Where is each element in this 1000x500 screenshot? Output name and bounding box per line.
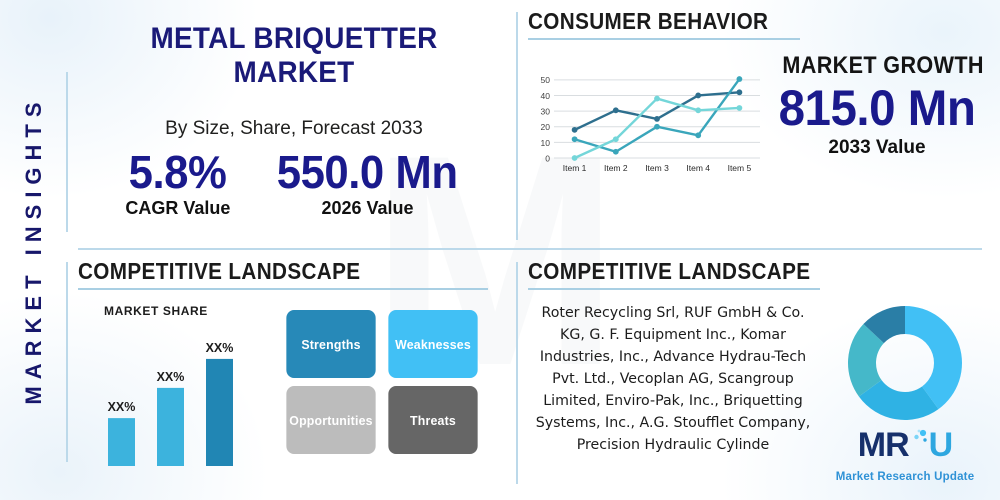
consumer-behavior-heading: CONSUMER BEHAVIOR [528, 8, 768, 35]
competitive-landscape-left-rule [78, 288, 488, 290]
donut-column: MRU Market Research Update [818, 302, 992, 483]
svg-text:XX%: XX% [206, 341, 234, 355]
swot-threats-label: Threats [410, 413, 456, 428]
stat-cagr-value: 5.8% [128, 148, 228, 196]
svg-text:Item 3: Item 3 [645, 163, 669, 173]
market-share-bar-chart: MARKET SHARE XX%XX%XX% [78, 304, 278, 475]
brand-wordmark: MRU [836, 428, 975, 468]
competitive-landscape-left-heading: COMPETITIVE LANDSCAPE [78, 258, 360, 285]
horizontal-divider [78, 248, 982, 250]
brand-wordmark-prefix: MR [858, 426, 909, 464]
comp-left-body: MARKET SHARE XX%XX%XX% Strengths Weaknes… [78, 304, 510, 475]
key-players-list: Roter Recycling Srl, RUF GmbH & Co. KG, … [528, 302, 818, 483]
svg-text:Item 4: Item 4 [686, 163, 710, 173]
competitive-landscape-right-heading: COMPETITIVE LANDSCAPE [528, 258, 810, 285]
vertical-divider-top [516, 12, 518, 240]
swot-threats[interactable]: Threats [388, 386, 477, 454]
market-growth-heading: MARKET GROWTH [783, 52, 984, 80]
market-growth-panel: CONSUMER BEHAVIOR MARKET GROWTH 01020304… [528, 8, 992, 244]
hero-subtitle: By Size, Share, Forecast 2033 [78, 118, 510, 140]
page-title: METAL BRIQUETTER MARKET [93, 22, 495, 90]
hero-panel: METAL BRIQUETTER MARKET By Size, Share, … [78, 8, 510, 244]
bar-chart-svg: XX%XX%XX% [78, 318, 278, 470]
growth-body: 01020304050Item 1Item 2Item 3Item 4Item … [528, 66, 992, 191]
swot-grid: Strengths Weaknesses Opportunities Threa… [284, 310, 480, 475]
svg-text:30: 30 [541, 106, 551, 116]
swot-strengths[interactable]: Strengths [286, 310, 375, 378]
svg-text:Item 2: Item 2 [604, 163, 628, 173]
competitive-landscape-left-panel: COMPETITIVE LANDSCAPE MARKET SHARE XX%XX… [78, 258, 510, 492]
svg-text:10: 10 [541, 138, 551, 148]
growth-heading-block: CONSUMER BEHAVIOR MARKET GROWTH [528, 8, 992, 40]
comp-right-heading-block: COMPETITIVE LANDSCAPE [528, 258, 992, 290]
competitive-landscape-right-rule [528, 288, 820, 290]
market-split-donut-chart [846, 304, 964, 422]
rail-divider-upper [66, 72, 68, 232]
brand-logo: MRU Market Research Update [836, 428, 975, 483]
competitive-landscape-right-panel: COMPETITIVE LANDSCAPE Roter Recycling Sr… [528, 258, 992, 492]
left-rail: MARKET INSIGHTS [0, 0, 68, 500]
svg-text:Item 1: Item 1 [563, 163, 587, 173]
stat-cagr: 5.8% CAGR Value [125, 148, 230, 219]
stat-cagr-label: CAGR Value [125, 198, 230, 219]
rail-divider-lower [66, 262, 68, 462]
svg-text:XX%: XX% [108, 400, 136, 414]
hero-stat-row: 5.8% CAGR Value 550.0 Mn 2026 Value [78, 148, 510, 219]
brand-bubbles-icon [909, 428, 929, 468]
svg-text:XX%: XX% [157, 370, 185, 384]
vertical-divider-bottom [516, 262, 518, 484]
svg-text:0: 0 [545, 153, 550, 163]
consumer-behavior-line-chart: 01020304050Item 1Item 2Item 3Item 4Item … [528, 66, 762, 191]
swot-opportunities-label: Opportunities [289, 413, 372, 428]
svg-text:50: 50 [541, 75, 551, 85]
svg-text:20: 20 [541, 122, 551, 132]
stat-2026-value: 550.0 Mn [277, 148, 458, 196]
brand-wordmark-suffix: U [929, 426, 953, 464]
stat-2026: 550.0 Mn 2026 Value [272, 148, 462, 219]
stat-2033: 815.0 Mn 2033 Value [762, 66, 992, 191]
swot-weaknesses[interactable]: Weaknesses [388, 310, 477, 378]
svg-text:Item 5: Item 5 [728, 163, 752, 173]
players-body: Roter Recycling Srl, RUF GmbH & Co. KG, … [528, 302, 992, 483]
stat-2033-label: 2033 Value [762, 137, 992, 159]
stat-2026-label: 2026 Value [272, 198, 462, 219]
swot-weaknesses-label: Weaknesses [395, 337, 471, 352]
rail-label: MARKET INSIGHTS [21, 95, 47, 404]
stat-2033-value: 815.0 Mn [768, 82, 987, 135]
infographic-root: M MARKET INSIGHTS METAL BRIQUETTER MARKE… [0, 0, 1000, 500]
swot-strengths-label: Strengths [301, 337, 360, 352]
consumer-behavior-rule [528, 38, 800, 40]
brand-tagline: Market Research Update [836, 471, 975, 483]
swot-opportunities[interactable]: Opportunities [286, 386, 375, 454]
comp-left-heading-block: COMPETITIVE LANDSCAPE [78, 258, 510, 290]
line-chart-svg: 01020304050Item 1Item 2Item 3Item 4Item … [528, 66, 762, 186]
market-share-title: MARKET SHARE [104, 304, 278, 318]
svg-text:40: 40 [541, 91, 551, 101]
